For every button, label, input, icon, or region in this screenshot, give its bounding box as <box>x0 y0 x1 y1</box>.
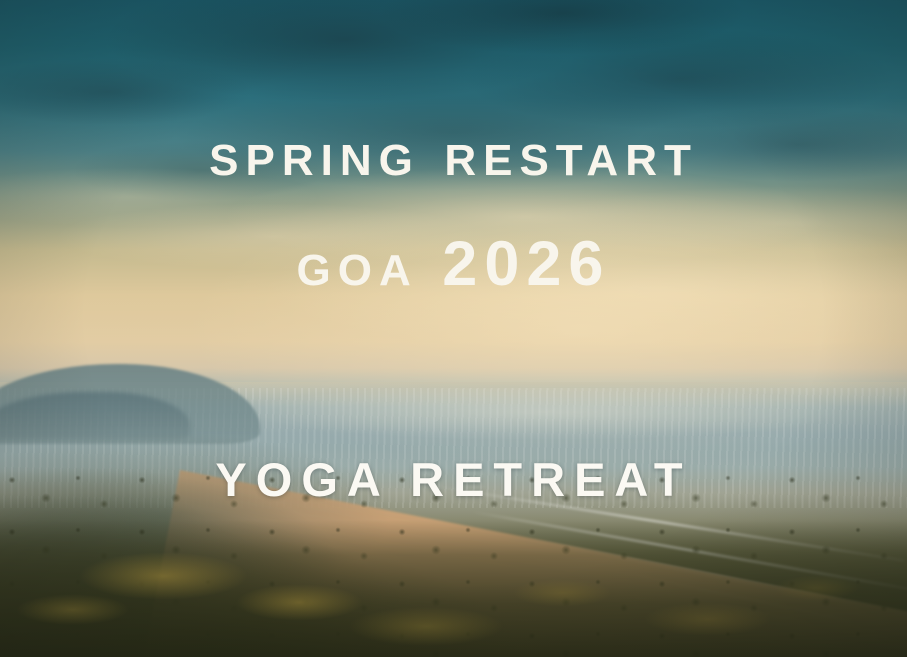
retreat-poster: Spring Restart Goa 2026 YOGA RETREAT <box>0 0 907 657</box>
vignette-overlay <box>0 0 907 657</box>
poster-subheading: YOGA RETREAT <box>0 452 907 507</box>
poster-headline-line-2: Goa 2026 <box>0 228 907 300</box>
poster-headline-line-1: Spring Restart <box>0 118 907 190</box>
